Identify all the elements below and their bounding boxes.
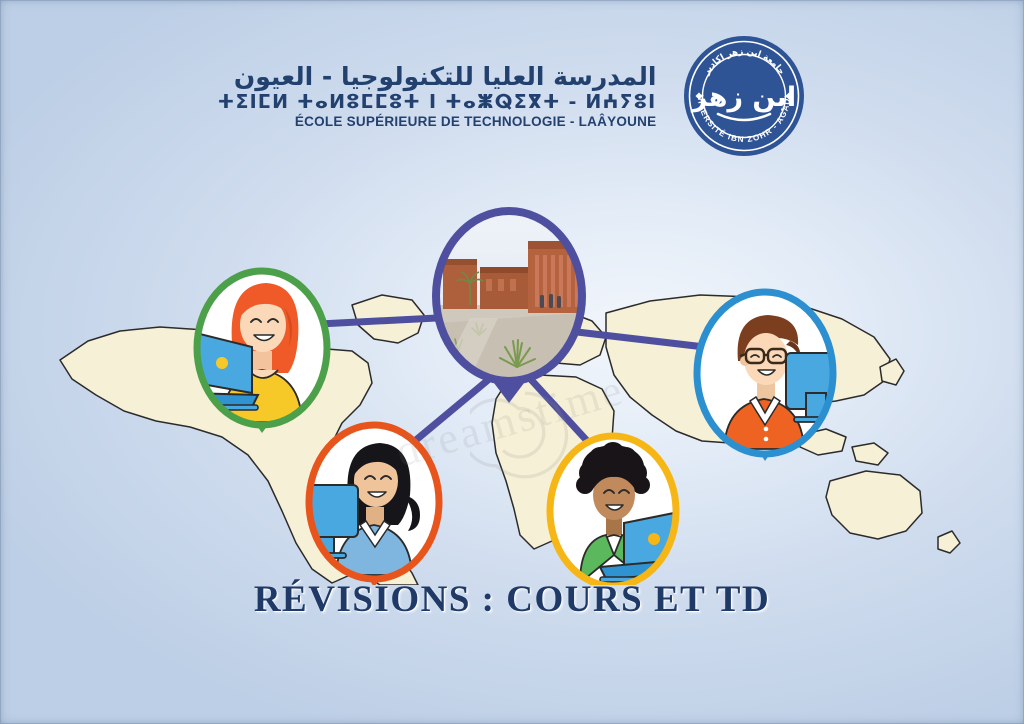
page-title: RÉVISIONS : COURS ET TD: [0, 578, 1024, 621]
world-map-stage: [0, 155, 1024, 585]
header-tifinagh-title: ⵜⵉⵏⵎⵍ ⵜⴰⵍⵓⵎⵎⵓⵜ ⵏ ⵜⴰⵥⵕⵉⴳⵜ - ⵍⵄⵢⵓⵏ: [218, 93, 657, 112]
header-french-title: ÉCOLE SUPÉRIEURE DE TECHNOLOGIE - LAÂYOU…: [295, 115, 657, 129]
institution-header-text: المدرسة العليا للتكنولوجيا - العيون ⵜⵉⵏⵎ…: [218, 64, 657, 129]
institution-header: المدرسة العليا للتكنولوجيا - العيون ⵜⵉⵏⵎ…: [0, 34, 1024, 158]
campus-photo-pin[interactable]: [436, 211, 584, 403]
header-arabic-title: المدرسة العليا للتكنولوجيا - العيون: [234, 64, 657, 89]
university-seal-icon: UNIVERSITÉ IBN ZOHR - AGADIR جامعة ابن ز…: [682, 34, 806, 158]
poster-canvas: المدرسة العليا للتكنولوجيا - العيون ⵜⵉⵏⵎ…: [0, 0, 1024, 724]
student-pin-yellow[interactable]: [550, 436, 690, 585]
seal-monogram: ابن زهر: [690, 82, 796, 113]
